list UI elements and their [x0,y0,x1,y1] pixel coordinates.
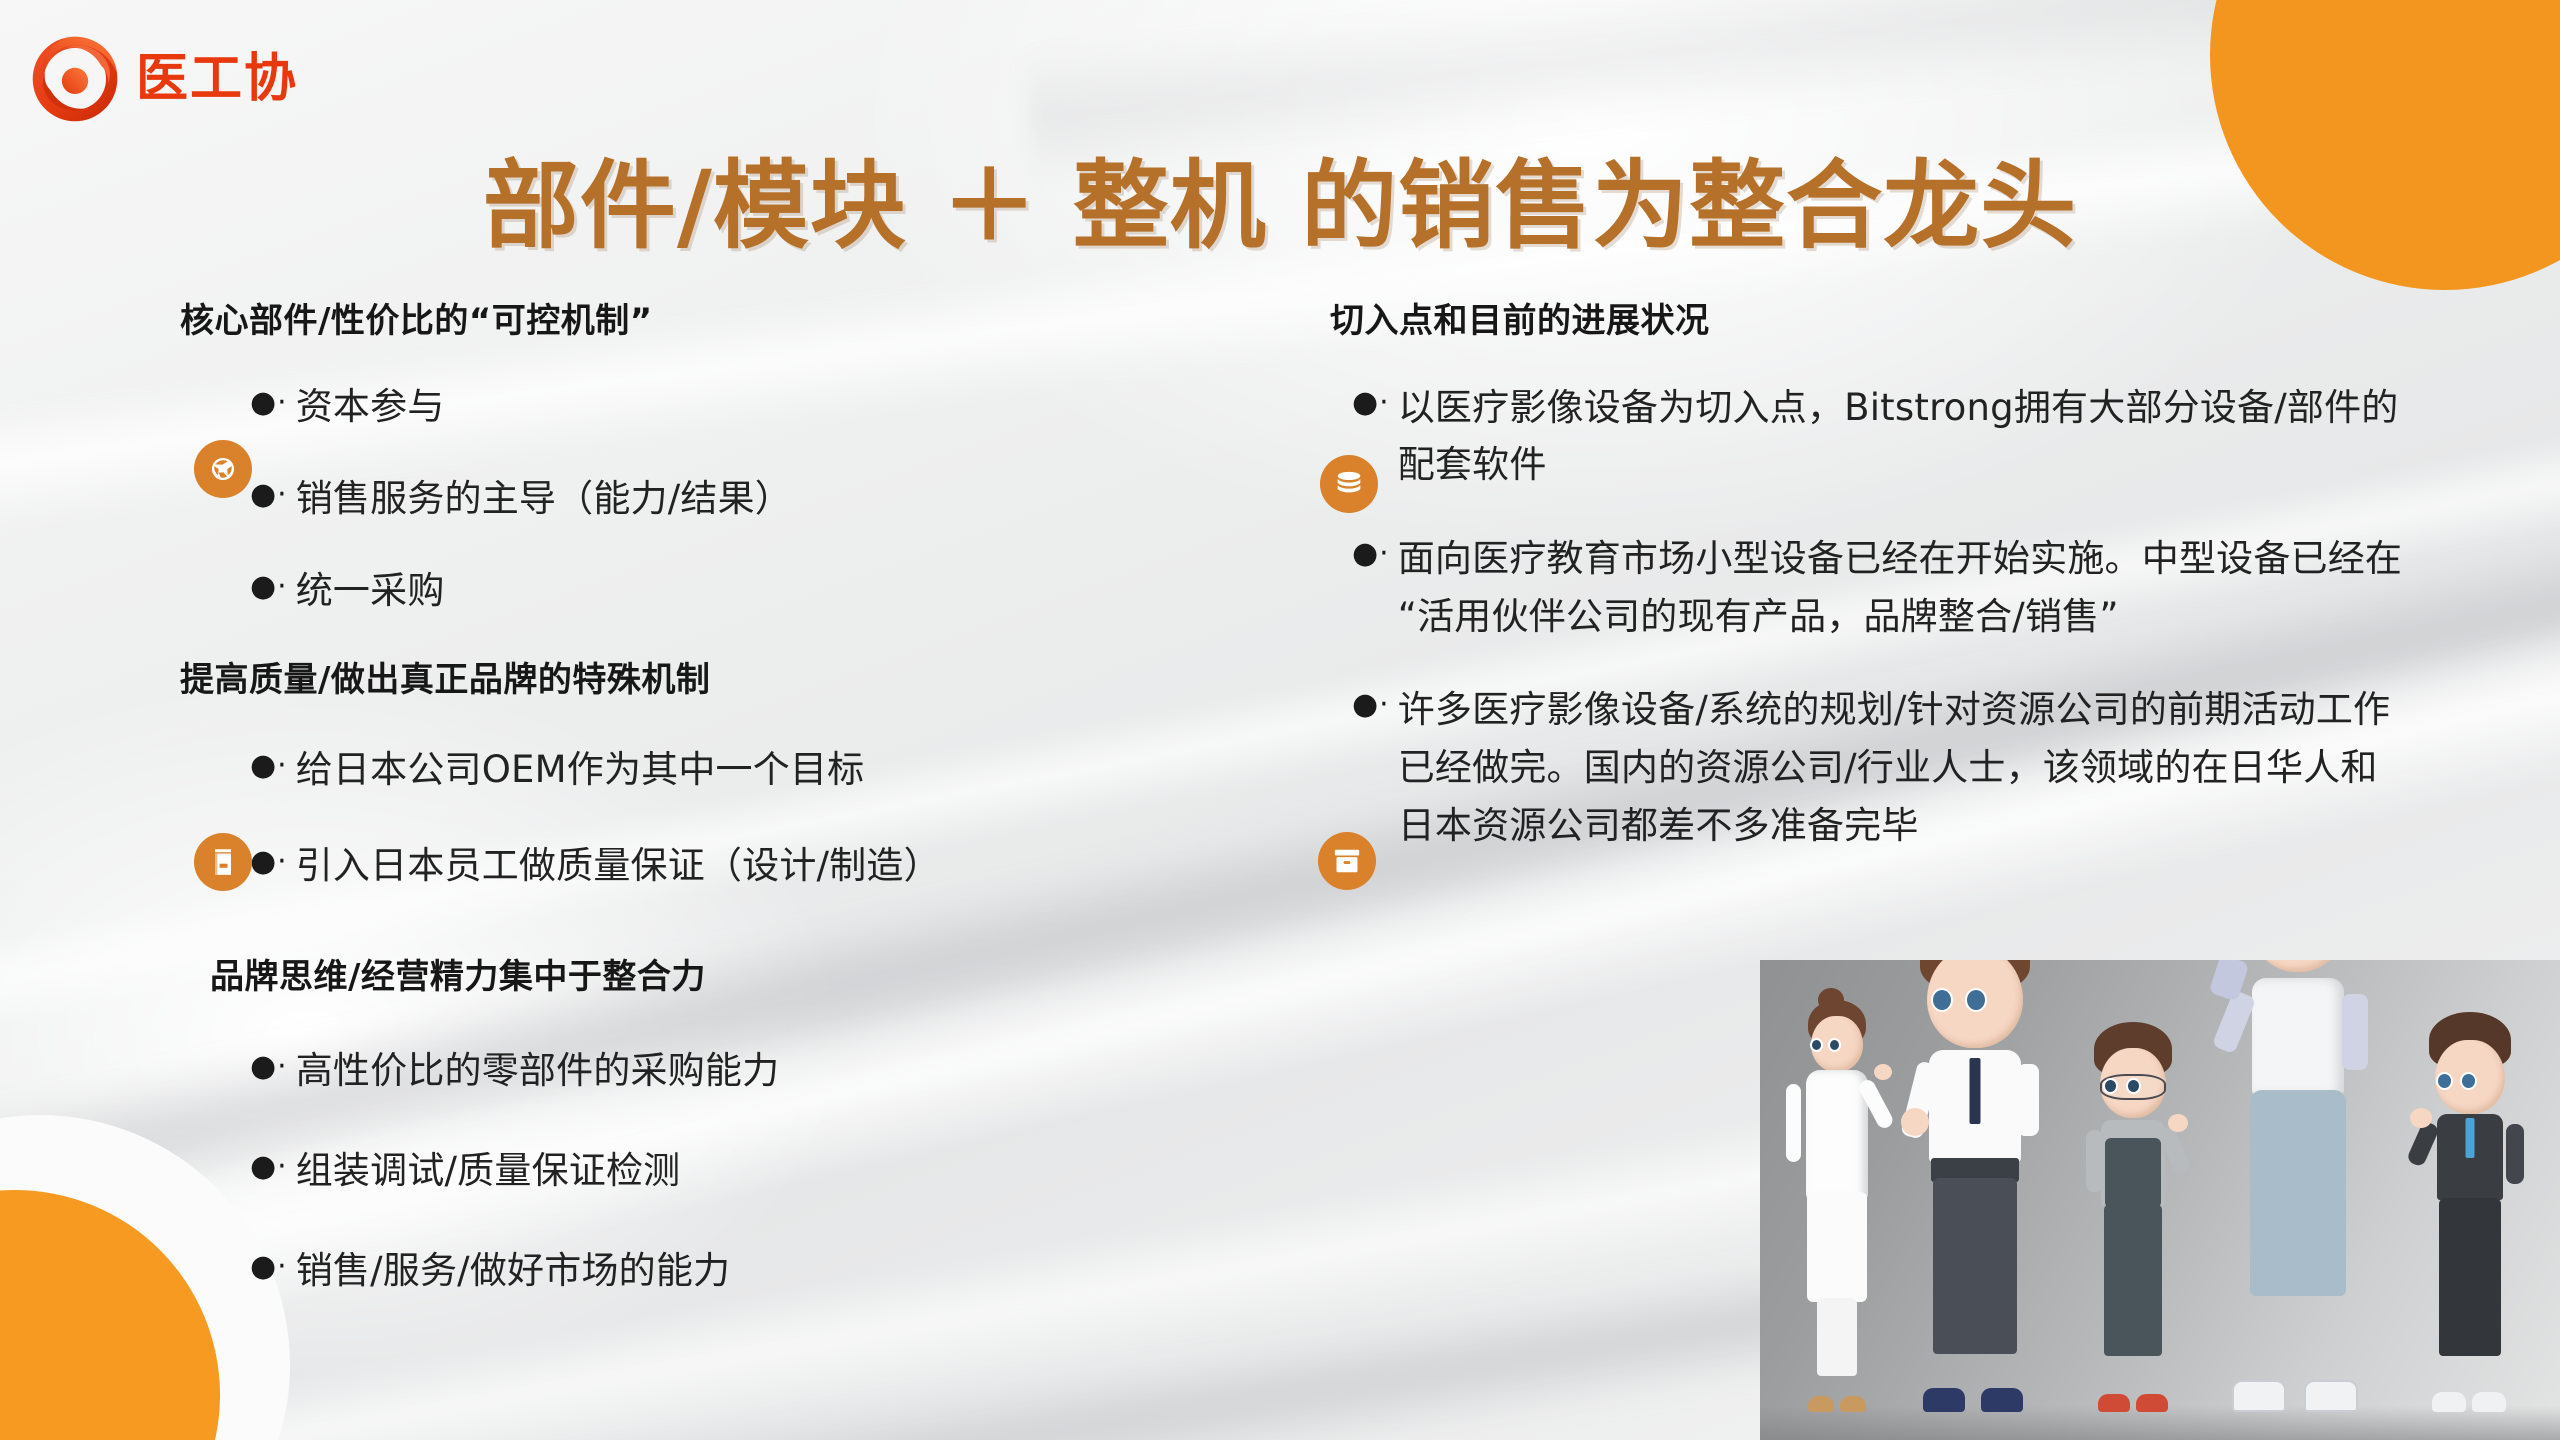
list-item: ●· 销售服务的主导（能力/结果） [250,471,1300,527]
bullet-text: 资本参与 [296,379,1300,435]
bullet-text: 组装调试/质量保证检测 [296,1143,1300,1199]
left-section-3: 品牌思维/经营精力集中于整合力 ●· 高性价比的零部件的采购能力 ●· 组装调试… [180,956,1300,1299]
left-column: 核心部件/性价比的“可控机制” ●· 资本参与 ●· 销售服务的主导（能力/结果… [180,300,1300,1299]
character-boy-dark [2410,1012,2530,1412]
slide-title: 部件/模块 ＋ 整机 的销售为整合龙头 [0,128,2560,267]
character-boy-overalls [2078,1022,2188,1412]
archive-icon [1318,832,1376,890]
bullet-text: 销售/服务/做好市场的能力 [296,1243,1300,1299]
bullet-marker-icon: ●· [250,379,288,428]
right-section-1: 切入点和目前的进展状况 ●· 以医疗影像设备为切入点，Bitstrong拥有大部… [1330,300,2410,855]
bullet-text: 高性价比的零部件的采购能力 [296,1043,1300,1099]
swirl-logo-icon [28,32,122,126]
list-item: ●· 组装调试/质量保证检测 [250,1143,1300,1199]
character-girl-glasses [2208,960,2388,1412]
section-heading: 核心部件/性价比的“可控机制” [180,300,1300,343]
bullet-marker-icon: ●· [250,1243,288,1292]
bullet-text: 面向医疗教育市场小型设备已经在开始实施。中型设备已经在“活用伙伴公司的现有产品，… [1398,530,2410,645]
right-column: 切入点和目前的进展状况 ●· 以医疗影像设备为切入点，Bitstrong拥有大部… [1330,300,2410,855]
list-item: ●· 资本参与 [250,379,1300,435]
character-female-doctor [1782,992,1892,1412]
list-item: ●· 销售/服务/做好市场的能力 [250,1243,1300,1299]
section-heading: 品牌思维/经营精力集中于整合力 [210,956,1300,999]
brand-logo: 医工协 [28,32,298,126]
list-item: ●· 统一采购 [250,563,1300,619]
bullet-marker-icon: ●· [250,1143,288,1192]
bullet-text: 以医疗影像设备为切入点，Bitstrong拥有大部分设备/部件的配套软件 [1398,379,2410,494]
bullet-marker-icon: ●· [250,471,288,520]
list-item: ●· 以医疗影像设备为切入点，Bitstrong拥有大部分设备/部件的配套软件 [1352,379,2410,494]
bullet-text: 引入日本员工做质量保证（设计/制造） [296,838,1300,894]
bullet-marker-icon: ●· [250,838,288,887]
cartoon-characters-photo [1760,960,2560,1440]
brand-logo-text: 医工协 [136,53,298,105]
left-section-1: 核心部件/性价比的“可控机制” ●· 资本参与 ●· 销售服务的主导（能力/结果… [180,300,1300,619]
section-heading: 提高质量/做出真正品牌的特殊机制 [180,659,1300,702]
bullet-text: 许多医疗影像设备/系统的规划/针对资源公司的前期活动工作已经做完。国内的资源公司… [1398,681,2410,854]
aperture-icon [194,440,252,498]
bullet-marker-icon: ●· [250,742,288,791]
bullet-list: ●· 以医疗影像设备为切入点，Bitstrong拥有大部分设备/部件的配套软件 … [1352,379,2410,855]
list-item: ●· 引入日本员工做质量保证（设计/制造） [250,838,1300,894]
bullet-marker-icon: ●· [250,1043,288,1092]
list-item: ●· 给日本公司OEM作为其中一个目标 [250,742,1300,798]
database-icon [1320,455,1378,513]
list-item: ●· 面向医疗教育市场小型设备已经在开始实施。中型设备已经在“活用伙伴公司的现有… [1352,530,2410,645]
bullet-list: ●· 给日本公司OEM作为其中一个目标 ●· 引入日本员工做质量保证（设计/制造… [250,742,1300,894]
bullet-marker-icon: ●· [1352,530,1390,579]
bullet-list: ●· 高性价比的零部件的采购能力 ●· 组装调试/质量保证检测 ●· 销售/服务… [250,1043,1300,1300]
bullet-marker-icon: ●· [1352,681,1390,730]
list-item: ●· 高性价比的零部件的采购能力 [250,1043,1300,1099]
book-icon [194,833,252,891]
character-boy-white-shirt [1895,960,2055,1412]
bullet-text: 统一采购 [296,563,1300,619]
left-section-2: 提高质量/做出真正品牌的特殊机制 ●· 给日本公司OEM作为其中一个目标 ●· … [180,659,1300,894]
bullet-text: 给日本公司OEM作为其中一个目标 [296,742,1300,798]
slide-root: 医工协 部件/模块 ＋ 整机 的销售为整合龙头 [0,0,2560,1440]
bullet-list: ●· 资本参与 ●· 销售服务的主导（能力/结果） ●· 统一采购 [250,379,1300,620]
list-item: ●· 许多医疗影像设备/系统的规划/针对资源公司的前期活动工作已经做完。国内的资… [1352,681,2410,854]
bullet-marker-icon: ●· [250,563,288,612]
bullet-text: 销售服务的主导（能力/结果） [296,471,1300,527]
section-heading: 切入点和目前的进展状况 [1330,300,2410,343]
bullet-marker-icon: ●· [1352,379,1390,428]
